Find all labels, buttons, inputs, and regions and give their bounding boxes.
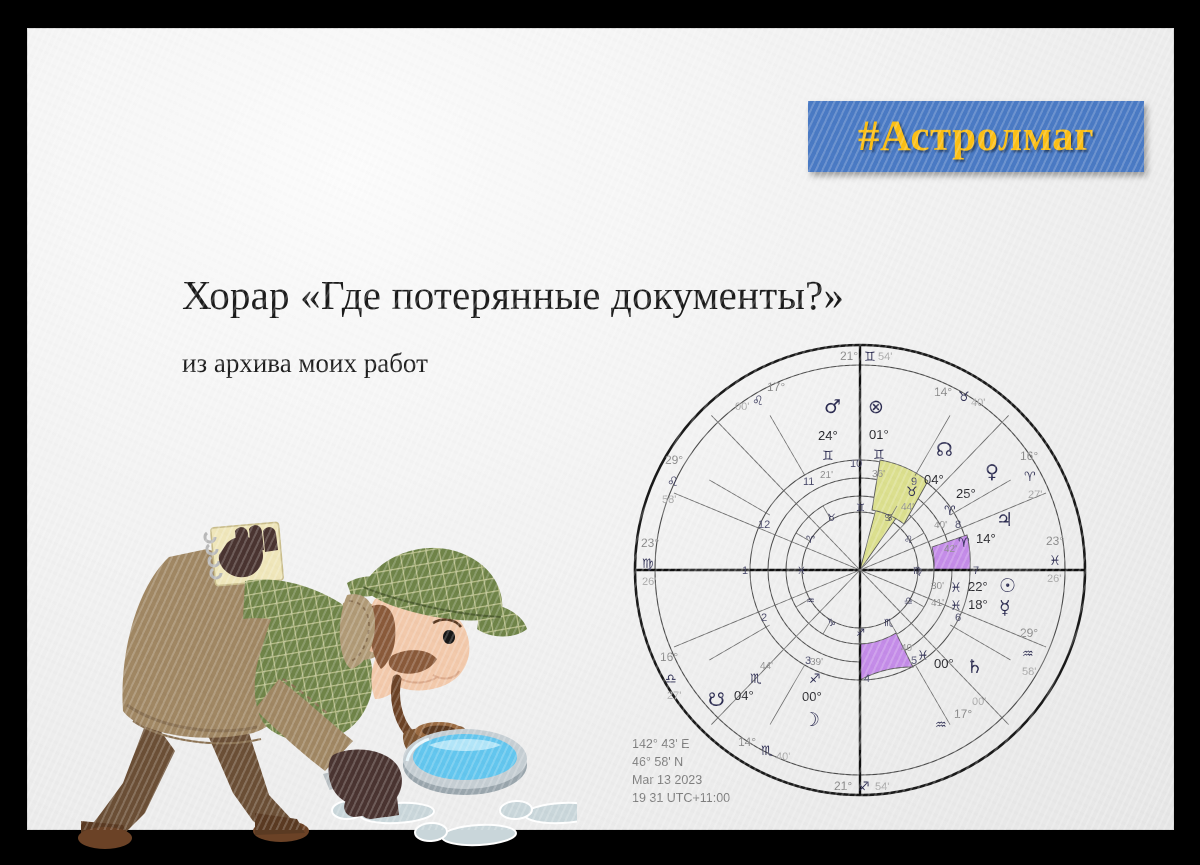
- planet-venus: ♀ 25° ♈ 40': [934, 461, 999, 531]
- venus-deg: 25°: [956, 486, 976, 501]
- moon-deg: 00°: [802, 689, 822, 704]
- moon-glyph: ☽: [803, 709, 820, 731]
- mercury-deg: 18°: [968, 597, 988, 612]
- inner-sign-leo: ♌: [904, 535, 913, 546]
- cusp-scorpio-min: 40': [776, 751, 790, 763]
- north-node-min: 44': [901, 502, 914, 513]
- cusp-label-dsc: 23° ♍ 26': [641, 536, 659, 588]
- inner-sign-aquarius: ♒: [806, 596, 815, 607]
- inner-sign-libra: ♎: [904, 596, 913, 607]
- cusp-aries-deg: 16°: [1020, 449, 1038, 463]
- inner-sign-capricorn: ♑: [827, 618, 836, 629]
- page-subtitle: из архива моих работ: [182, 348, 428, 379]
- inner-sign-cancer: ♋: [884, 513, 893, 524]
- cusp-leo2-sign: ♌: [752, 394, 764, 409]
- moon-min: 39': [810, 657, 823, 668]
- mercury-glyph: ☿: [999, 597, 1011, 619]
- cusp-ic-deg: 21°: [834, 779, 852, 793]
- brand-banner-label: #Астролмаг: [858, 112, 1094, 161]
- house-number-3: 3: [805, 655, 811, 667]
- jupiter-min: 42': [944, 544, 957, 555]
- north-node-glyph: ☊: [936, 439, 953, 461]
- cusp-aquarius2-sign: ♒: [935, 718, 947, 733]
- cusp-label-leo: 29° ♌ 58': [662, 453, 683, 506]
- house-number-10: 10: [850, 458, 862, 470]
- fortune-min: 36': [872, 469, 885, 480]
- cusp-label-ic: 21° ♐ 54': [834, 779, 889, 795]
- cusp-aquarius-sign: ♒: [1022, 647, 1034, 662]
- chart-time: 19 31 UTC+11:00: [632, 791, 730, 805]
- cusp-aries-sign: ♈: [1024, 470, 1036, 485]
- mars-sign: ♊: [822, 449, 834, 464]
- venus-glyph: ♀: [985, 461, 999, 483]
- saturn-sign: ♓: [917, 649, 929, 664]
- cusp-dsc-sign: ♍: [642, 557, 654, 572]
- mars-glyph: ♂: [824, 396, 841, 418]
- sun-sign: ♓: [950, 581, 962, 596]
- chart-info-block: 142° 43' E 46° 58' N Mar 13 2023 19 31 U…: [632, 737, 730, 805]
- inner-sign-aries: ♈: [806, 535, 815, 546]
- house-number-1: 1: [742, 565, 748, 577]
- south-node-min: 44': [760, 661, 773, 672]
- horary-astrology-chart: 21° ♊ 54' 14° ♉ 40' 16° ♈ 27': [628, 338, 1088, 808]
- cusp-mc-min: 54': [878, 351, 892, 363]
- cusp-mc-deg: 21°: [840, 349, 858, 363]
- cusp-label-asc: 23° ♓ 26': [1046, 534, 1064, 585]
- inner-sign-pisces: ♓: [797, 566, 806, 577]
- inner-sign-virgo: ♍: [913, 566, 922, 577]
- cusp-label-leo-2: 17° ♌ 00': [735, 380, 785, 413]
- mars-min: 21': [820, 470, 833, 481]
- venus-min: 40': [934, 520, 947, 531]
- inner-sign-scorpio: ♏: [884, 618, 893, 629]
- sun-glyph: ☉: [999, 575, 1016, 597]
- cusp-scorpio-deg: 14°: [738, 735, 756, 749]
- cusp-asc-min: 26': [1047, 573, 1061, 585]
- cusp-aries-min: 27': [1028, 489, 1042, 501]
- mercury-min: 41': [931, 598, 944, 609]
- sherlock-holmes-illustration: [57, 483, 577, 858]
- hat-brim-front: [477, 603, 527, 637]
- house-number-6: 6: [955, 612, 961, 624]
- fortune-glyph: ⊗: [868, 396, 884, 418]
- cusp-taurus-sign: ♉: [958, 390, 970, 405]
- cusp-label-aquarius-2: 17° ♒ 00': [935, 696, 986, 733]
- cusp-aquarius-min: 58': [1022, 666, 1036, 678]
- cusp-asc-deg: 23°: [1046, 534, 1064, 548]
- jupiter-glyph: ♃: [996, 509, 1013, 531]
- cusp-aquarius-deg: 29°: [1020, 626, 1038, 640]
- cusp-label-taurus: 14° ♉ 40': [934, 385, 985, 409]
- inner-sign-sagittarius: ♐: [856, 628, 865, 639]
- north-node-deg: 04°: [924, 472, 944, 487]
- saturn-glyph: ♄: [966, 656, 983, 678]
- house-number-7: 7: [973, 565, 979, 577]
- sun-min: 30': [931, 581, 944, 592]
- cusp-aquarius2-deg: 17°: [954, 707, 972, 721]
- cusp-libra-deg: 16°: [660, 650, 678, 664]
- cusp-ic-sign: ♐: [858, 780, 870, 795]
- planet-moon: ☽ 00° ♐ 39': [802, 657, 823, 731]
- chart-latitude: 46° 58' N: [632, 755, 683, 769]
- shoe-back-sole: [78, 827, 132, 849]
- house-number-4: 4: [864, 673, 870, 685]
- inner-sign-gemini: ♊: [856, 503, 865, 514]
- chart-longitude: 142° 43' E: [632, 737, 689, 751]
- mars-deg: 24°: [818, 428, 838, 443]
- cusp-leo-deg: 29°: [665, 453, 683, 467]
- cusp-leo-min: 58': [662, 494, 676, 506]
- fortune-sign: ♊: [873, 448, 885, 463]
- cusp-taurus-deg: 14°: [934, 385, 952, 399]
- sun-deg: 22°: [968, 579, 988, 594]
- chart-date: Mar 13 2023: [632, 773, 702, 787]
- cusp-taurus-min: 40': [971, 397, 985, 409]
- cusp-libra-min: 27': [667, 690, 681, 702]
- eye: [443, 630, 455, 644]
- cusp-mc-sign: ♊: [864, 350, 876, 365]
- cusp-leo2-deg: 17°: [767, 380, 785, 394]
- saturn-deg: 00°: [934, 656, 954, 671]
- venus-sign: ♈: [944, 504, 956, 519]
- cusp-aquarius2-min: 00': [972, 696, 986, 708]
- cusp-leo-sign: ♌: [667, 475, 679, 490]
- inner-sign-taurus: ♉: [827, 513, 836, 524]
- planet-sun: ☉ 22° ♓ 30': [931, 575, 1016, 597]
- planet-mars: ♂ 24° ♊ 21': [818, 396, 841, 481]
- slide-root: #Астролмаг Хорар «Где потерянные докумен…: [0, 0, 1200, 865]
- house-number-2: 2: [761, 612, 767, 624]
- cusp-label-aries: 16° ♈ 27': [1020, 449, 1042, 501]
- jupiter-deg: 14°: [976, 531, 996, 546]
- cusp-label-libra: 16° ♎ 27': [660, 650, 681, 702]
- house-number-11: 11: [803, 476, 814, 488]
- cusp-asc-sign: ♓: [1049, 554, 1061, 569]
- south-node-deg: 04°: [734, 688, 754, 703]
- page-title: Хорар «Где потерянные документы?»: [182, 271, 1042, 319]
- fortune-deg: 01°: [869, 427, 889, 442]
- moon-sign: ♐: [809, 672, 821, 687]
- cusp-label-mc: 21° ♊ 54': [840, 349, 892, 365]
- cusp-scorpio-sign: ♏: [761, 744, 773, 759]
- planet-south-node: ☋ 04° ♏ 44': [708, 661, 773, 711]
- south-node-sign: ♏: [750, 672, 762, 687]
- saturn-min: 40': [901, 643, 914, 654]
- cusp-dsc-deg: 23°: [641, 536, 659, 550]
- cusp-libra-sign: ♎: [665, 672, 677, 687]
- house-number-8: 8: [955, 519, 961, 531]
- house-number-12: 12: [758, 519, 770, 531]
- jupiter-sign: ♈: [958, 536, 970, 551]
- slide-canvas: #Астролмаг Хорар «Где потерянные докумен…: [27, 28, 1174, 830]
- cusp-label-scorpio: 14° ♏ 40': [738, 735, 790, 763]
- cusp-label-aquarius: 29° ♒ 58': [1020, 626, 1038, 678]
- south-node-glyph: ☋: [708, 689, 725, 711]
- house-number-5: 5: [911, 655, 917, 667]
- cusp-dsc-min: 26': [642, 576, 656, 588]
- brand-banner[interactable]: #Астролмаг: [808, 101, 1144, 172]
- house-number-9: 9: [911, 476, 917, 488]
- cusp-labels: 21° ♊ 54' 14° ♉ 40' 16° ♈ 27': [641, 349, 1064, 795]
- cusp-ic-min: 54': [875, 781, 889, 793]
- cusp-leo2-min: 00': [735, 401, 749, 413]
